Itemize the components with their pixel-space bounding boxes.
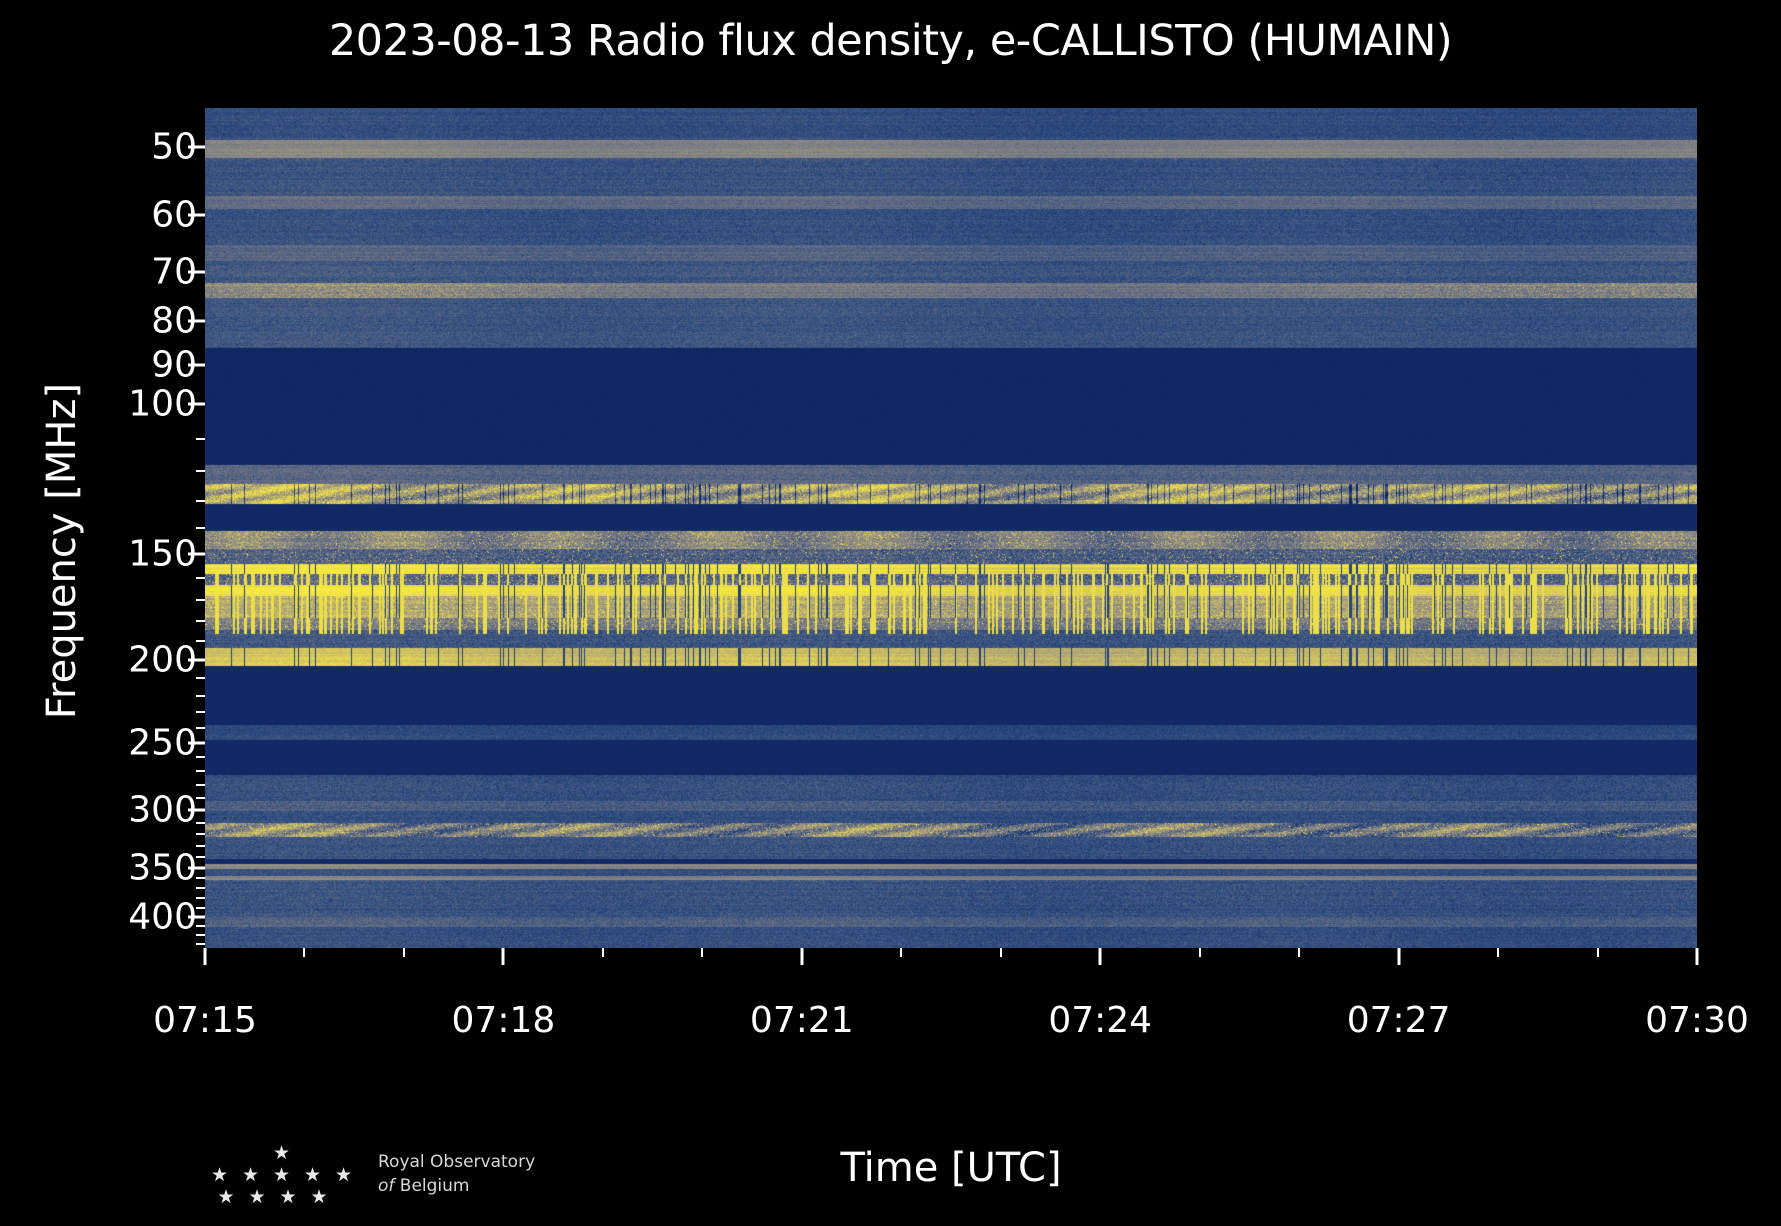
star-icon: ★ — [304, 1166, 321, 1185]
y-minor-tick-mark — [196, 677, 205, 679]
y-tick-mark — [188, 809, 205, 812]
star-icon: ★ — [273, 1166, 290, 1185]
x-minor-tick-mark — [900, 948, 902, 957]
x-minor-tick-mark — [602, 948, 604, 957]
y-tick-mark — [188, 552, 205, 555]
logo-of-word: of — [378, 1176, 394, 1196]
y-minor-tick-mark — [196, 822, 205, 824]
x-minor-tick-mark — [1497, 948, 1499, 957]
x-tick-mark — [1696, 948, 1699, 965]
y-minor-tick-mark — [196, 887, 205, 889]
y-minor-tick-mark — [196, 943, 205, 945]
y-tick-label: 400 — [128, 896, 197, 937]
y-axis-label: Frequency [MHz] — [39, 131, 85, 971]
y-minor-tick-mark — [196, 727, 205, 729]
y-minor-tick-mark — [196, 934, 205, 936]
spectrogram-plot-area — [205, 108, 1697, 948]
y-minor-tick-mark — [196, 797, 205, 799]
y-tick-mark — [188, 320, 205, 323]
y-tick-label: 100 — [128, 383, 197, 424]
y-tick-mark — [188, 915, 205, 918]
y-tick-mark — [188, 146, 205, 149]
x-tick-label: 07:30 — [1645, 1000, 1749, 1041]
star-icon: ★ — [280, 1188, 297, 1207]
y-minor-tick-mark — [196, 925, 205, 927]
y-minor-tick-mark — [196, 897, 205, 899]
x-minor-tick-mark — [403, 948, 405, 957]
y-tick-label: 150 — [128, 533, 197, 574]
royal-observatory-logo: ★★★★★★★★★★ Royal Observatory of Belgium — [200, 1140, 620, 1212]
logo-line-1: Royal Observatory — [378, 1150, 535, 1174]
y-tick-label: 250 — [128, 722, 197, 763]
x-minor-tick-mark — [701, 948, 703, 957]
x-tick-label: 07:18 — [452, 1000, 556, 1041]
y-minor-tick-mark — [196, 577, 205, 579]
figure-canvas: 2023-08-13 Radio flux density, e-CALLIST… — [0, 0, 1781, 1226]
y-tick-mark — [188, 741, 205, 744]
y-tick-label: 200 — [128, 640, 197, 681]
x-tick-label: 07:15 — [153, 1000, 257, 1041]
logo-text: Royal Observatory of Belgium — [378, 1150, 535, 1198]
y-tick-mark — [188, 363, 205, 366]
y-minor-tick-mark — [196, 770, 205, 772]
x-tick-label: 07:24 — [1048, 1000, 1152, 1041]
star-icon: ★ — [211, 1166, 228, 1185]
chart-title: 2023-08-13 Radio flux density, e-CALLIST… — [0, 16, 1781, 66]
x-minor-tick-mark — [1597, 948, 1599, 957]
y-tick-mark — [188, 402, 205, 405]
x-tick-label: 07:21 — [750, 1000, 854, 1041]
star-icon: ★ — [242, 1166, 259, 1185]
y-minor-tick-mark — [196, 711, 205, 713]
y-tick-mark — [188, 213, 205, 216]
x-tick-mark — [502, 948, 505, 965]
y-minor-tick-mark — [196, 877, 205, 879]
y-minor-tick-mark — [196, 695, 205, 697]
logo-belgium-word: Belgium — [400, 1176, 470, 1196]
y-minor-tick-mark — [196, 470, 205, 472]
star-icon: ★ — [311, 1188, 328, 1207]
spectrogram-image — [205, 108, 1697, 948]
x-minor-tick-mark — [1199, 948, 1201, 957]
star-icon: ★ — [218, 1188, 235, 1207]
star-icon: ★ — [249, 1188, 266, 1207]
y-tick-label: 350 — [128, 847, 197, 888]
x-tick-mark — [204, 948, 207, 965]
x-minor-tick-mark — [1000, 948, 1002, 957]
y-minor-tick-mark — [196, 500, 205, 502]
y-minor-tick-mark — [196, 856, 205, 858]
y-tick-label: 300 — [128, 790, 197, 831]
x-tick-mark — [1397, 948, 1400, 965]
y-minor-tick-mark — [196, 620, 205, 622]
y-minor-tick-mark — [196, 599, 205, 601]
y-tick-mark — [188, 659, 205, 662]
x-tick-mark — [1099, 948, 1102, 965]
star-icon: ★ — [273, 1144, 290, 1163]
y-minor-tick-mark — [196, 527, 205, 529]
y-minor-tick-mark — [196, 784, 205, 786]
y-tick-mark — [188, 866, 205, 869]
y-minor-tick-mark — [196, 756, 205, 758]
star-cluster-icon: ★★★★★★★★★★ — [200, 1144, 370, 1208]
y-minor-tick-mark — [196, 438, 205, 440]
y-minor-tick-mark — [196, 845, 205, 847]
x-minor-tick-mark — [1298, 948, 1300, 957]
x-tick-mark — [800, 948, 803, 965]
y-minor-tick-mark — [196, 640, 205, 642]
star-icon: ★ — [335, 1166, 352, 1185]
x-minor-tick-mark — [303, 948, 305, 957]
y-minor-tick-mark — [196, 833, 205, 835]
x-tick-label: 07:27 — [1347, 1000, 1451, 1041]
y-tick-mark — [188, 270, 205, 273]
y-minor-tick-mark — [196, 907, 205, 909]
logo-line-2: of Belgium — [378, 1174, 535, 1198]
